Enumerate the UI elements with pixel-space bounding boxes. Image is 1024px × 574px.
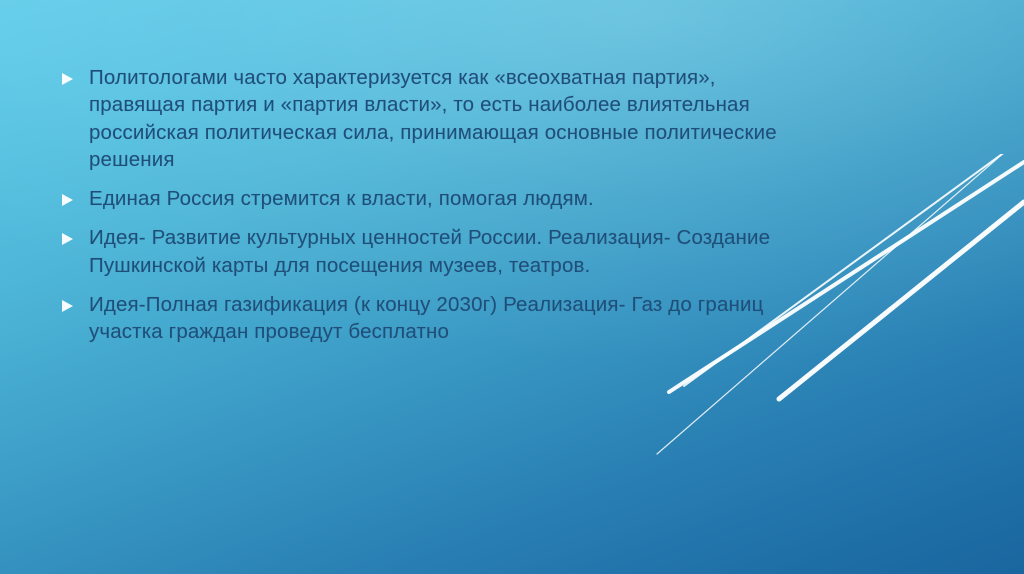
list-item-text: Идея- Развитие культурных ценностей Росс… — [89, 224, 782, 279]
list-item: Идея-Полная газификация (к концу 2030г) … — [62, 291, 782, 346]
presentation-slide: Политологами часто характеризуется как «… — [0, 0, 1024, 574]
list-item: Идея- Развитие культурных ценностей Росс… — [62, 224, 782, 279]
list-item-text: Единая Россия стремится к власти, помога… — [89, 185, 782, 212]
triangle-right-icon — [62, 73, 76, 85]
list-item-text: Идея-Полная газификация (к концу 2030г) … — [89, 291, 782, 346]
triangle-right-icon — [62, 233, 76, 245]
bullet-list: Политологами часто характеризуется как «… — [62, 64, 782, 345]
streak-line-thick — [779, 202, 1024, 399]
list-item-text: Политологами часто характеризуется как «… — [89, 64, 782, 173]
triangle-right-icon — [62, 194, 76, 206]
triangle-right-icon — [62, 300, 76, 312]
list-item: Единая Россия стремится к власти, помога… — [62, 185, 782, 212]
list-item: Политологами часто характеризуется как «… — [62, 64, 782, 173]
